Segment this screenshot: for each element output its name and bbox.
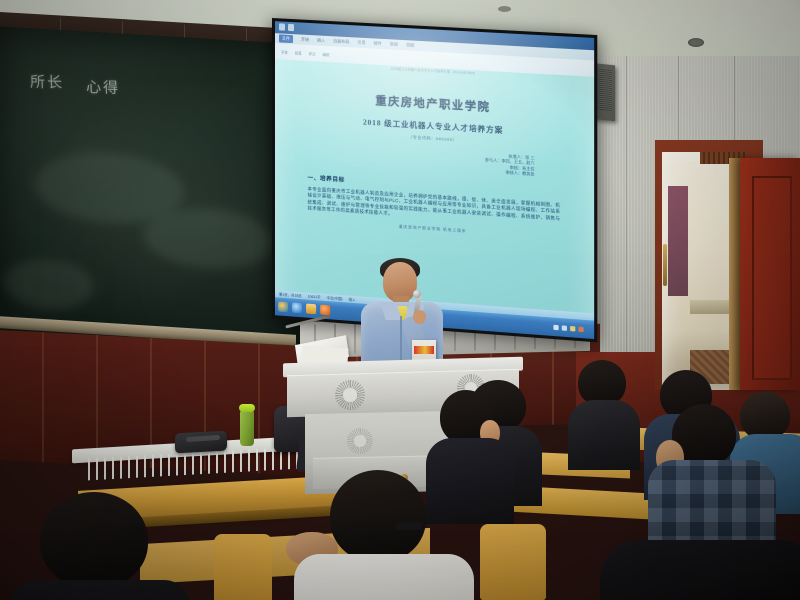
student-head [740,392,790,440]
door-handle-icon[interactable] [663,244,667,286]
microphone-head [413,290,421,298]
chalk-note-2: 心得 [86,76,121,98]
ribbon-group-styles: 样式 [309,51,316,56]
tab-references[interactable]: 引用 [357,40,365,46]
internet-explorer-icon[interactable] [292,302,302,313]
tab-mailings[interactable]: 邮件 [374,40,382,46]
tissue-box-label [414,346,434,354]
water-bottle [240,410,254,446]
ceiling-vent-secondary-icon [498,6,511,12]
student-body [294,554,474,600]
shoulder-bag [175,431,227,454]
chalk-note-1: 所长 [30,71,65,93]
tab-insert[interactable]: 插入 [317,37,325,43]
ribbon-group-editing: 编辑 [322,51,329,56]
tab-file[interactable]: 文件 [279,34,293,43]
status-words: 10631字 [308,294,321,300]
tab-view[interactable]: 视图 [406,42,414,49]
network-icon[interactable] [553,324,558,329]
quick-access-toolbar[interactable] [279,23,294,31]
student-head [40,492,148,588]
lectern-medallion-left-icon [335,380,365,410]
bottle-cap [239,404,255,412]
student-body [600,540,800,600]
student-head [330,470,426,562]
ribbon-group-paragraph: 段落 [295,50,302,55]
chair-back [214,534,272,600]
volume-icon[interactable] [562,325,567,330]
windows-start-icon[interactable] [278,301,288,312]
student-body [426,438,514,524]
taskbar-launch-area[interactable] [275,301,330,315]
file-explorer-icon[interactable] [306,304,316,315]
outside-window [668,186,688,296]
tab-review[interactable]: 审阅 [390,41,398,47]
antivirus-icon[interactable] [578,326,583,332]
chair-back [480,524,546,600]
ribbon-group-font: 字体 [281,49,288,54]
tab-page-layout[interactable]: 页面布局 [333,38,349,45]
lecture-hall-photo: 所长 心得 [0,0,800,600]
undo-icon[interactable] [288,24,294,31]
student-body [10,580,190,600]
lectern-medallion-lower-left-icon [347,428,373,454]
save-icon[interactable] [279,23,285,30]
taskbar-system-tray[interactable] [553,324,594,332]
tab-home[interactable]: 开始 [301,37,309,43]
ceiling-vent-icon [688,38,704,47]
door-panel-inset [752,176,792,380]
student-body [568,400,640,470]
glasses-icon [396,522,422,530]
input-method-icon[interactable] [570,325,575,330]
slide-document-body: 重庆房地产职业学院 2018 级工业机器人专业人才培养方案 （专业代码：5603… [294,87,575,242]
presenter-hand [413,310,426,324]
